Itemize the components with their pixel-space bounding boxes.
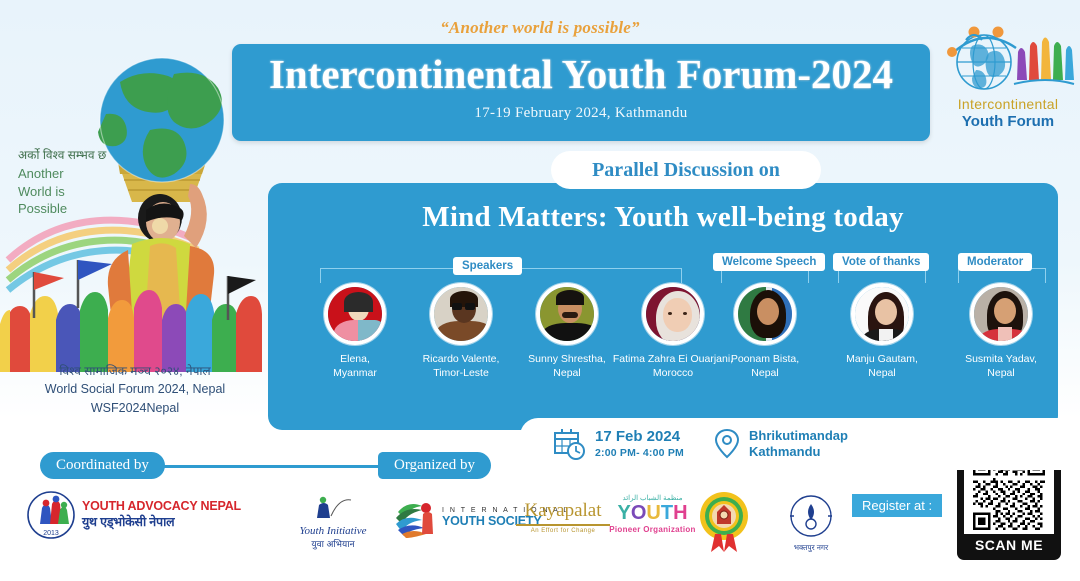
venue-line-1: Bhrikutimandap — [749, 428, 848, 444]
ypo-name: YOUTH — [600, 502, 705, 525]
group-label-speakers: Speakers — [453, 257, 522, 275]
yi-name-nepali: युवा अभियान — [278, 537, 388, 550]
avatar — [536, 283, 598, 345]
avatar — [430, 283, 492, 345]
logo-line-2: Youth Forum — [940, 113, 1076, 130]
location-pin-icon — [714, 427, 740, 461]
parallel-discussion-pill: Parallel Discussion on — [551, 151, 821, 189]
session-panel: Mind Matters: Youth well-being today Spe… — [268, 183, 1058, 430]
organized-by-label: Organized by — [378, 452, 491, 479]
person-card: Sunny Shrestha, Nepal — [518, 283, 616, 380]
wsf-caption-nepali: विश्व सामाजिक मञ्च २०२४, नेपाल — [10, 363, 260, 380]
person-name-text: Ricardo Valente, — [423, 353, 500, 365]
person-name: Elena, Myanmar — [306, 352, 404, 380]
person-country: Nepal — [553, 367, 580, 379]
wsf-tagline-line3: Possible — [18, 201, 67, 216]
venue-line-2: Kathmandu — [749, 444, 848, 460]
event-date: 17 Feb 2024 — [595, 428, 684, 447]
calendar-clock-icon — [552, 427, 586, 461]
person-name-text: Elena, — [340, 353, 370, 365]
person-country: Timor-Leste — [433, 367, 489, 379]
person-name: Sunny Shrestha, Nepal — [518, 352, 616, 380]
person-name-text: Susmita Yadav, — [965, 353, 1037, 365]
sponsor-youth-initiative: Youth Initiative युवा अभियान — [278, 494, 388, 550]
wsf-tagline: अर्को विश्व सम्भव छ Another World is Pos… — [18, 148, 113, 218]
person-name: Manju Gautam, Nepal — [833, 352, 931, 380]
avatar — [324, 283, 386, 345]
award-ribbon-icon — [695, 490, 753, 552]
person-name: Ricardo Valente, Timor-Leste — [412, 352, 510, 380]
person-card: Susmita Yadav, Nepal — [952, 283, 1050, 380]
municipality-name: भक्तपुर नगर — [765, 543, 857, 552]
sponsor-award-seal — [695, 490, 753, 557]
event-poster: “Another world is possible” — [0, 0, 1080, 581]
person-card: Poonam Bista, Nepal — [716, 283, 814, 380]
wsf-tagline-nepali: अर्को विश्व सम्भव छ — [18, 148, 113, 163]
yan-emblem-icon: 2013 — [26, 490, 76, 540]
group-label-moderator: Moderator — [958, 253, 1032, 271]
intercontinental-youth-forum-logo: Intercontinental Youth Forum — [940, 18, 1076, 133]
wsf-tagline-line1: Another — [18, 166, 64, 181]
avatar — [642, 283, 704, 345]
wsf-tagline-line2: World is — [18, 184, 65, 199]
sponsor-youth-pioneer-organization: منظمة الشباب الرائد YOUTH Pioneer Organi… — [600, 494, 705, 534]
ypo-arabic-text: منظمة الشباب الرائد — [600, 494, 705, 502]
date-time-info: 17 Feb 2024 2:00 PM- 4:00 PM — [552, 427, 684, 461]
svg-text:2013: 2013 — [43, 530, 59, 537]
person-card: Manju Gautam, Nepal — [833, 283, 931, 380]
avatar — [851, 283, 913, 345]
sponsor-logos: 2013 YOUTH ADVOCACY NEPAL युथ एड्भोकेसी … — [20, 486, 860, 566]
person-name-text: Manju Gautam, — [846, 353, 918, 365]
person-name-text: Poonam Bista, — [731, 353, 799, 365]
group-label-vote-of-thanks: Vote of thanks — [833, 253, 929, 271]
wsf-caption: विश्व सामाजिक मञ्च २०२४, नेपाल World Soc… — [10, 363, 260, 417]
youth-initiative-icon — [313, 494, 353, 520]
yi-name-english: Youth Initiative — [278, 525, 388, 537]
globe-people-icon — [940, 18, 1076, 98]
person-country: Nepal — [751, 367, 778, 379]
municipality-seal-icon — [784, 494, 838, 538]
person-country: Nepal — [987, 367, 1014, 379]
venue-info: Bhrikutimandap Kathmandu — [714, 427, 848, 461]
avatar — [970, 283, 1032, 345]
logo-line-1: Intercontinental — [940, 96, 1076, 112]
person-card: Ricardo Valente, Timor-Leste — [412, 283, 510, 380]
session-title: Mind Matters: Youth well-being today — [268, 201, 1058, 234]
person-name: Susmita Yadav, Nepal — [952, 352, 1050, 380]
event-time: 2:00 PM- 4:00 PM — [595, 447, 684, 460]
scan-me-label: SCAN ME — [964, 537, 1054, 553]
yan-name-nepali: युथ एड्भोकेसी नेपाल — [82, 513, 241, 530]
avatar — [734, 283, 796, 345]
ypo-tagline: Pioneer Organization — [600, 525, 705, 534]
person-country: Nepal — [868, 367, 895, 379]
register-label[interactable]: Register at : — [852, 494, 942, 517]
group-label-welcome-speech: Welcome Speech — [713, 253, 825, 271]
person-card: Elena, Myanmar — [306, 283, 404, 380]
person-country: Myanmar — [333, 367, 377, 379]
municipality-name-nepali: भक्तपुर नगर — [794, 543, 828, 552]
person-country: Morocco — [653, 367, 693, 379]
person-name-text: Sunny Shrestha, — [528, 353, 606, 365]
title-banner: Intercontinental Youth Forum-2024 17-19 … — [232, 44, 930, 141]
event-dates: 17-19 February 2024, Kathmandu — [232, 105, 930, 122]
wsf-hashtag: WSF2024Nepal — [10, 399, 260, 417]
sponsor-youth-advocacy-nepal: 2013 YOUTH ADVOCACY NEPAL युथ एड्भोकेसी … — [26, 490, 241, 540]
page-title: Intercontinental Youth Forum-2024 — [232, 52, 930, 98]
date-time-text: 17 Feb 2024 2:00 PM- 4:00 PM — [595, 428, 684, 460]
sponsor-bhaktapur-municipality: भक्तपुर नगर — [765, 494, 857, 552]
person-name: Poonam Bista, Nepal — [716, 352, 814, 380]
wsf-caption-english: World Social Forum 2024, Nepal — [10, 380, 260, 398]
coordinated-by-label: Coordinated by — [40, 452, 165, 479]
venue-text: Bhrikutimandap Kathmandu — [749, 428, 848, 461]
yan-name-english: YOUTH ADVOCACY NEPAL — [82, 499, 241, 513]
event-info-bar: 17 Feb 2024 2:00 PM- 4:00 PM Bhrikutiman… — [520, 418, 1080, 470]
iys-swirl-icon — [392, 498, 438, 538]
